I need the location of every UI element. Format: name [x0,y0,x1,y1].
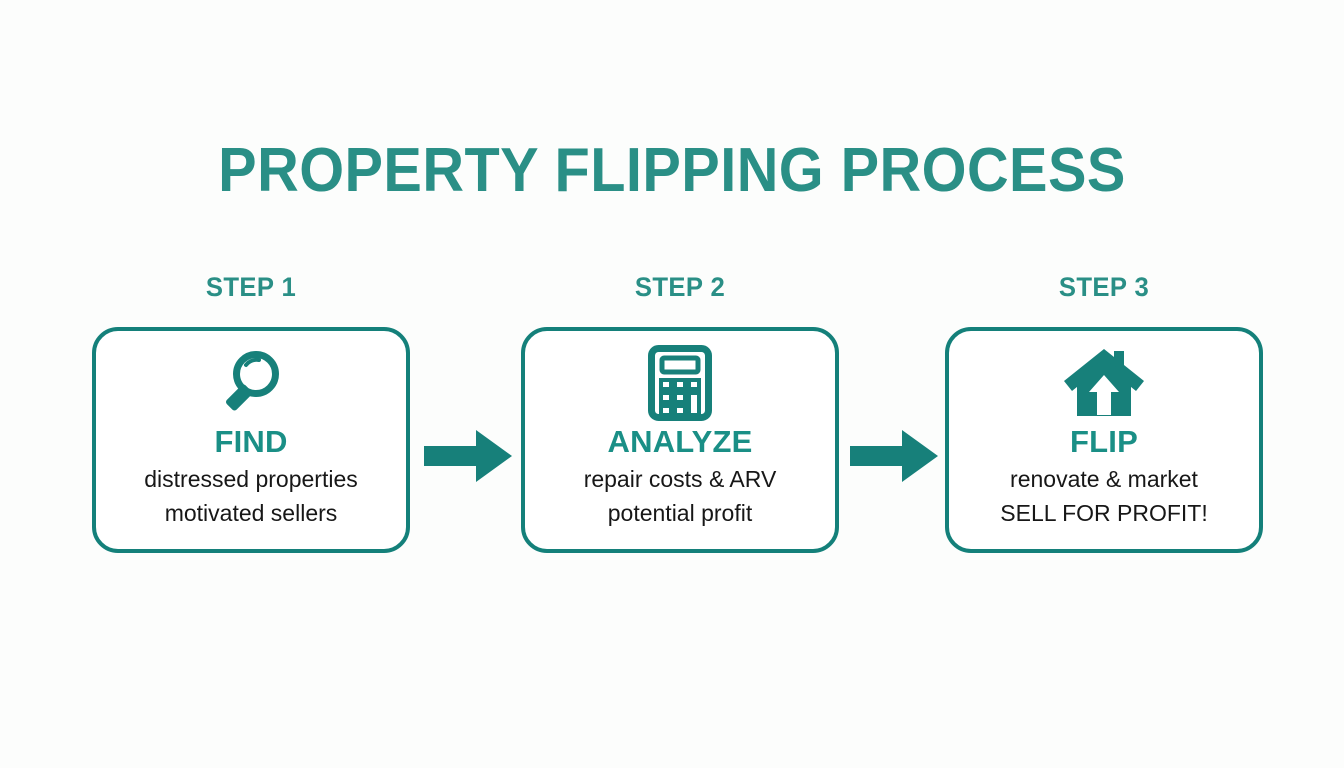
step-description-3: renovate & market SELL FOR PROFIT! [1000,462,1207,530]
process-flow: STEP 1 FIND distressed properties motiva… [72,270,1272,570]
step-description-line: motivated sellers [144,496,358,530]
process-step-analyze: STEP 2 [521,270,839,560]
step-description-line: SELL FOR PROFIT! [1000,496,1207,530]
step-heading-3: FLIP [1070,423,1138,460]
step-heading-1: FIND [214,423,287,460]
step-description-1: distressed properties motivated sellers [144,462,358,530]
step-label-1: STEP 1 [100,270,402,304]
step-card-find[interactable]: FIND distressed properties motivated sel… [92,327,410,553]
step-description-2: repair costs & ARV potential profit [584,462,777,530]
step-label-2: STEP 2 [529,270,831,304]
page-title: PROPERTY FLIPPING PROCESS [47,133,1297,209]
process-step-flip: STEP 3 FLIP renovat [945,270,1263,560]
calculator-icon [648,345,712,421]
arrow-right-icon [850,428,938,484]
step-card-analyze[interactable]: ANALYZE repair costs & ARV potential pro… [521,327,839,553]
process-step-find: STEP 1 FIND distressed properties motiva… [92,270,410,560]
step-heading-2: ANALYZE [608,423,753,460]
arrow-right-icon [424,428,512,484]
step-label-3: STEP 3 [953,270,1255,304]
step-description-line: repair costs & ARV [584,462,777,496]
step-description-line: distressed properties [144,462,358,496]
step-description-line: potential profit [584,496,777,530]
house-arrow-up-icon [1062,345,1146,421]
infographic-canvas: PROPERTY FLIPPING PROCESS STEP 1 FIND di… [0,0,1344,768]
magnifier-icon [214,345,288,421]
step-description-line: renovate & market [1000,462,1207,496]
step-card-flip[interactable]: FLIP renovate & market SELL FOR PROFIT! [945,327,1263,553]
